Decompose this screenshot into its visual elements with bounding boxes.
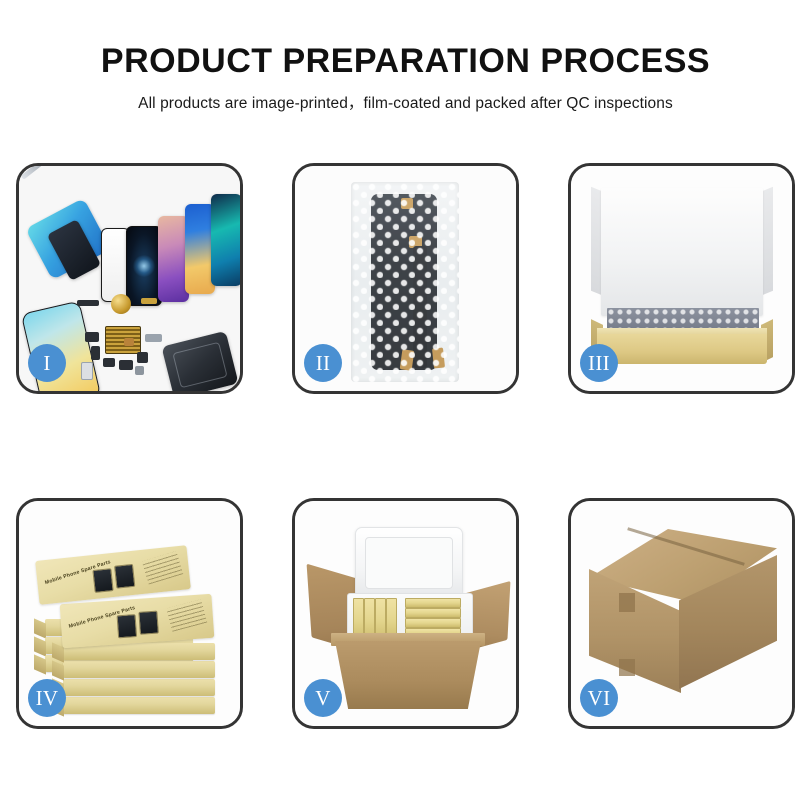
page-header: PRODUCT PREPARATION PROCESS All products…	[0, 0, 811, 113]
small-part-component	[91, 346, 100, 360]
packed-box	[405, 608, 461, 618]
flex-cable-component	[77, 300, 99, 306]
step-badge-5: V	[304, 679, 342, 717]
phone-back-housing	[161, 331, 238, 391]
step-badge-2: II	[304, 344, 342, 382]
box-art-screen	[114, 564, 135, 589]
small-part-component	[145, 334, 162, 342]
small-part-component	[103, 358, 115, 367]
step-badge-6: VI	[580, 679, 618, 717]
box-lid-panel	[601, 188, 763, 316]
page-subtitle: All products are image-printed，film-coat…	[0, 80, 811, 113]
process-step-panel-2[interactable]: II	[292, 163, 519, 394]
retail-box	[63, 661, 215, 678]
packed-box	[405, 598, 461, 608]
step-badge-3: III	[580, 344, 618, 382]
carton-tape-mark	[619, 659, 635, 676]
box-art-screen	[92, 568, 113, 593]
logic-board-component	[105, 326, 141, 354]
foam-box-lid	[355, 527, 463, 599]
phone-teal-screen	[211, 194, 240, 286]
process-step-panel-4[interactable]: Mobile Phone Spare Parts Mobile Phone Sp…	[16, 498, 243, 729]
process-step-panel-5[interactable]: V	[292, 498, 519, 729]
page-title: PRODUCT PREPARATION PROCESS	[0, 0, 811, 80]
box-art-screen	[117, 614, 138, 638]
bubble-wrap-texture	[351, 182, 459, 382]
small-part-component	[119, 360, 133, 370]
gold-connector-component	[141, 298, 157, 304]
packed-box	[405, 618, 461, 628]
carton-tape-mark	[619, 593, 635, 612]
step-badge-4: IV	[28, 679, 66, 717]
phone-black-screen	[126, 226, 162, 306]
retail-box	[63, 697, 215, 714]
tweezers-tool-icon	[21, 166, 48, 180]
speaker-component-icon	[111, 294, 131, 314]
small-part-component	[85, 332, 99, 342]
box-spec-lines	[142, 551, 183, 584]
retail-box	[63, 679, 215, 696]
bubble-wrap-bag	[351, 182, 459, 382]
process-step-panel-1[interactable]: I	[16, 163, 243, 394]
step-badge-1: I	[28, 344, 66, 382]
small-part-component	[135, 366, 144, 375]
box-spec-lines	[166, 599, 207, 631]
box-art-screen	[138, 611, 159, 635]
process-step-grid: I II	[16, 163, 795, 743]
sim-tray-component	[81, 362, 93, 380]
kraft-tray-front	[597, 334, 767, 364]
process-step-panel-6[interactable]: VI	[568, 498, 795, 729]
carton-body	[335, 641, 481, 709]
small-part-component	[137, 352, 148, 363]
small-part-component	[124, 338, 134, 346]
process-step-panel-3[interactable]: III	[568, 163, 795, 394]
